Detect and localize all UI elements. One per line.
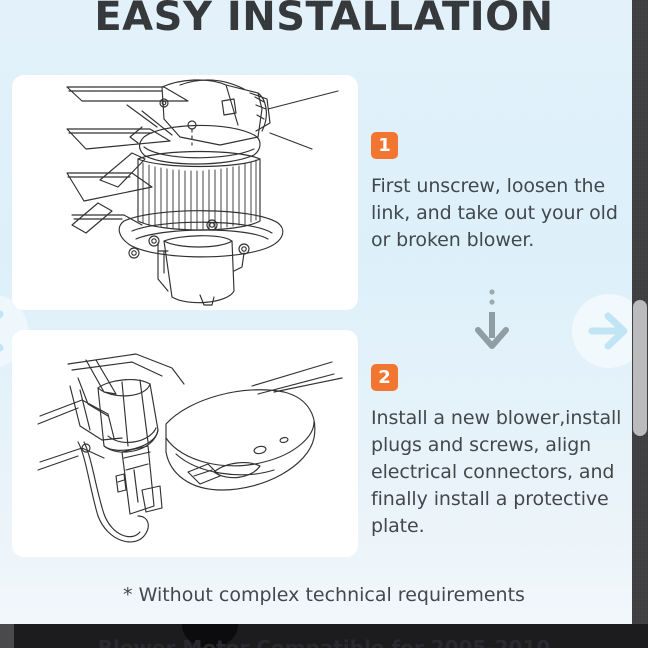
footnote: * Without complex technical requirements [0,582,648,608]
arrow-down-icon [470,288,514,350]
step-1-illustration-card [12,75,358,310]
step-2-number-badge: 2 [371,364,398,391]
product-image-panel: EASY INSTALLATION [0,0,648,624]
bottom-band-title: Blower Motor Compatible for 2005-2010 [0,636,648,648]
step-1-description: First unscrew, loosen the link, and take… [371,173,633,254]
carousel-prev-button[interactable] [0,294,28,368]
step-2-illustration-card [12,330,358,557]
flow-arrow [470,288,514,350]
bottom-chrome-band: Blower Motor Compatible for 2005-2010 [0,624,648,648]
step-2: 2 Install a new blower,install plugs and… [371,364,633,540]
step-1: 1 First unscrew, loosen the link, and ta… [371,132,633,254]
step-2-description: Install a new blower,install plugs and s… [371,405,633,540]
arrow-left-icon[interactable] [0,294,28,368]
screenshot-root: EASY INSTALLATION [0,0,648,648]
page-scrollbar-thumb[interactable] [633,300,647,436]
page-scrollbar-track[interactable] [632,0,648,624]
step-1-number-badge: 1 [371,132,398,159]
blower-motor-removal-diagram [12,75,358,310]
blower-motor-connector-diagram [12,330,358,557]
page-title: EASY INSTALLATION [0,0,648,40]
